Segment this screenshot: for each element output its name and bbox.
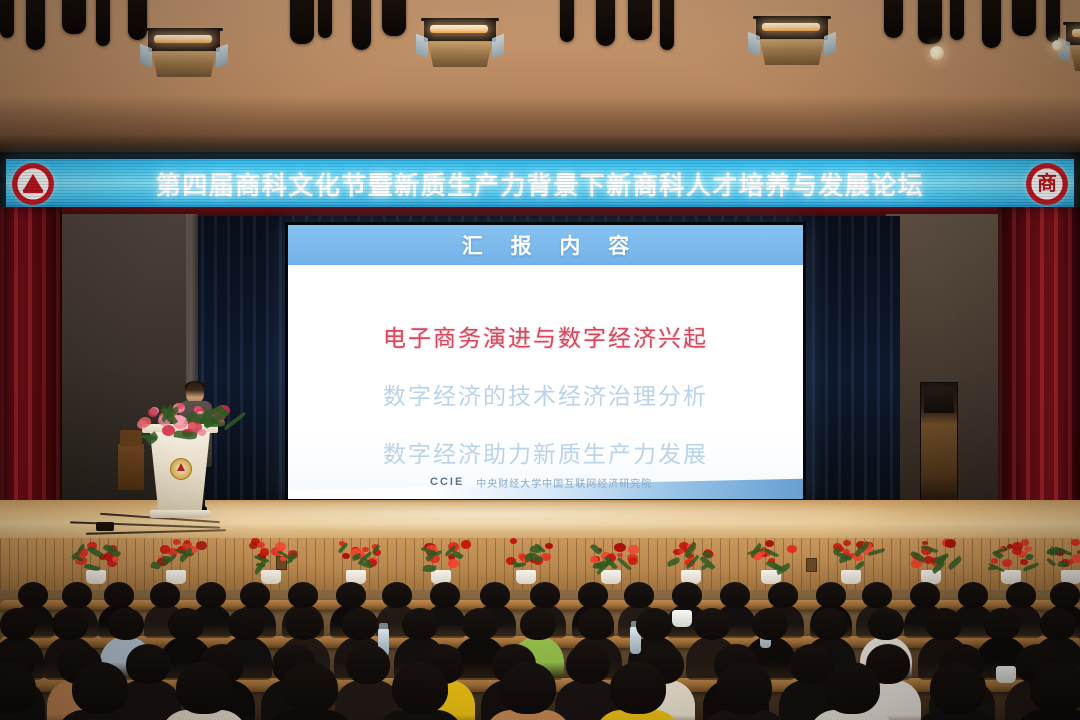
stage-light-fixture (1066, 18, 1080, 74)
pot-bloom (173, 539, 180, 545)
audience-member-head (176, 662, 232, 714)
ceiling-shadow (0, 96, 1080, 152)
university-crest-icon (170, 458, 192, 480)
acoustic-baffle (918, 0, 942, 44)
red-flower-pot (70, 538, 122, 584)
red-flower-pot (585, 538, 637, 584)
audience-member-head (196, 582, 226, 608)
pot-bloom (1021, 539, 1029, 546)
acoustic-baffle (352, 0, 371, 50)
acoustic-baffle (290, 0, 314, 44)
audience-member-head (694, 608, 730, 640)
slide-title: 汇 报 内 容 (451, 230, 641, 260)
audience-member-head (126, 644, 170, 684)
red-flower-pot (665, 538, 717, 584)
auditorium-photo: 第四届商科文化节暨新质生产力背景下新商科人才培养与发展论坛 商 汇 报 内 容 … (0, 0, 1080, 720)
pot-bloom (628, 557, 638, 565)
pot-bloom (461, 540, 472, 549)
flower-petal (139, 417, 151, 427)
acoustic-baffle (318, 0, 332, 38)
acoustic-baffle (1012, 0, 1036, 36)
audience-member-head (1030, 662, 1080, 714)
stage-light-fixture (756, 12, 828, 68)
pot-bloom (184, 540, 189, 544)
audience-member-head (720, 582, 750, 608)
audience-member-head (672, 582, 702, 608)
audience-member-head (240, 582, 270, 608)
fixture-flap-left (748, 32, 760, 57)
pot-vase (516, 570, 536, 584)
audience-member-head (1006, 582, 1036, 608)
slide-body: 电子商务演进与数字经济兴起 数字经济的技术经济治理分析 数字经济助力新质生产力发… (288, 265, 803, 499)
audience-member-head (462, 608, 498, 640)
pot-leaf (422, 564, 436, 572)
pot-bloom (1024, 546, 1032, 552)
stage-chair (118, 444, 144, 490)
audience-member-head (346, 644, 390, 684)
pot-bloom (448, 559, 460, 568)
audience-member-head (108, 608, 144, 640)
pot-leaf (667, 557, 682, 567)
wall-socket-icon (806, 558, 817, 572)
audience-member-head (342, 608, 378, 640)
slide-footer: CCIE 中央财经大学中国互联网经济研究院 (288, 465, 803, 499)
banner-title-text: 第四届商科文化节暨新质生产力背景下新商科人才培养与发展论坛 (60, 166, 1020, 202)
led-event-banner: 第四届商科文化节暨新质生产力背景下新商科人才培养与发展论坛 商 (6, 157, 1074, 212)
stage-light-fixture (424, 14, 496, 70)
pa-speaker-cabinet (920, 382, 958, 506)
pot-leaf (1058, 560, 1068, 568)
red-curtain-right (998, 207, 1080, 529)
audience-member-head (930, 662, 986, 714)
acoustic-baffle (382, 0, 406, 36)
audience-member-head (430, 582, 460, 608)
bottle-cap (379, 623, 388, 629)
audience-member-head (18, 582, 48, 608)
acoustic-baffle (950, 0, 964, 40)
fixture-lamp (1072, 29, 1080, 37)
fixture-flap-left (140, 44, 152, 69)
acoustic-baffle (1046, 0, 1060, 42)
slide-bullet-3: 数字经济助力新质生产力发展 (383, 435, 708, 469)
ccie-logo-text: CCIE (430, 476, 464, 488)
red-flower-pot (905, 538, 957, 584)
seal-glyph: 商 (1026, 163, 1068, 205)
slide-bullet-1: 电子商务演进与数字经济兴起 (383, 319, 708, 353)
audience-member-head (824, 662, 880, 714)
pot-bloom (628, 545, 639, 554)
pot-bloom (843, 540, 851, 546)
audience-member-head (958, 582, 988, 608)
acoustic-baffle (982, 0, 1001, 48)
audience-member-head (286, 608, 322, 640)
audience-member-head (812, 608, 848, 640)
red-curtain-left (0, 207, 62, 527)
acoustic-baffle (560, 0, 574, 42)
flower-petal (148, 408, 158, 417)
projection-screen-frame: 汇 报 内 容 电子商务演进与数字经济兴起 数字经济的技术经济治理分析 数字经济… (285, 222, 806, 502)
audience-member-head (1050, 582, 1080, 608)
red-flower-pot (245, 538, 297, 584)
pot-bloom (342, 553, 350, 560)
red-flower-pot (745, 538, 797, 584)
fixture-lamp (154, 35, 212, 43)
red-flower-pot (825, 538, 877, 584)
presentation-slide: 汇 报 内 容 电子商务演进与数字经济兴起 数字经济的技术经济治理分析 数字经济… (288, 225, 803, 499)
pot-bloom (1071, 554, 1080, 563)
stage-light-fixture (148, 24, 220, 80)
institute-name-text: 中央财经大学中国互联网经济研究院 (476, 475, 652, 490)
red-flower-pot (985, 538, 1037, 584)
audience-member-head (0, 608, 36, 640)
fixture-barndoor (1070, 45, 1080, 71)
pot-vase (601, 570, 621, 584)
audience-member-head (768, 582, 798, 608)
audience-member-head (520, 608, 556, 640)
audience-member-head (610, 662, 666, 714)
red-flower-pot (500, 538, 552, 584)
audience-member-head (624, 582, 654, 608)
audience-member-head (816, 582, 846, 608)
fixture-barndoor (152, 51, 216, 77)
audience-member-head (500, 662, 556, 714)
acoustic-baffle (96, 0, 110, 46)
ceiling-bulb-icon (1052, 40, 1063, 51)
audience-member-head (530, 582, 560, 608)
audience-member-head (282, 662, 338, 714)
pot-bloom (1002, 559, 1012, 567)
audience-member-head (480, 582, 510, 608)
audience-member-head (392, 662, 448, 714)
audience-member-head (862, 582, 892, 608)
audience-member-head (402, 608, 438, 640)
slide-header-band: 汇 报 内 容 (288, 225, 803, 265)
pot-bloom (614, 543, 625, 552)
audience-member-head (716, 662, 772, 714)
audience-member-head (62, 582, 92, 608)
university-seal-icon (12, 163, 54, 205)
pot-leaf (1046, 557, 1056, 567)
floor-sheen (150, 502, 910, 532)
acoustic-baffle (884, 0, 903, 38)
pot-vase (841, 570, 861, 584)
audience-member-head (104, 582, 134, 608)
slide-bullet-2: 数字经济的技术经济治理分析 (383, 377, 708, 411)
audience-member-head (566, 644, 610, 684)
red-flower-pot (1045, 538, 1080, 584)
audience-member-head (288, 582, 318, 608)
acoustic-baffle (26, 0, 45, 50)
fixture-barndoor (428, 41, 492, 67)
audience-member-head (984, 608, 1020, 640)
flower-petal (198, 429, 206, 436)
audience-member-head (382, 582, 412, 608)
red-flower-pot (330, 538, 382, 584)
business-school-seal-icon: 商 (1026, 163, 1068, 205)
audience-member-head (926, 608, 962, 640)
cable-junction-box (96, 522, 114, 531)
audience-member-head (336, 582, 366, 608)
acoustic-baffle (596, 0, 615, 46)
pot-bloom (257, 542, 265, 548)
red-flower-pot (150, 538, 202, 584)
pot-bloom (510, 538, 517, 544)
audience-member-head (868, 608, 904, 640)
audience-member-head (52, 608, 88, 640)
audience-member-head (910, 582, 940, 608)
pot-leaf (855, 561, 866, 570)
ceiling-bulb-icon (930, 46, 944, 60)
audience-member-head (578, 608, 614, 640)
audience-member-head (150, 582, 180, 608)
acoustic-baffle (128, 0, 147, 40)
pot-bloom (1071, 539, 1080, 546)
pot-bloom (275, 542, 286, 551)
pot-bloom (787, 545, 797, 553)
audience-member-head (578, 582, 608, 608)
pot-bloom (765, 540, 774, 547)
pot-leaf (161, 556, 170, 562)
paper-cup (996, 666, 1016, 683)
audience-member-head (1040, 608, 1076, 640)
pot-bloom (945, 539, 956, 548)
pot-bloom (260, 548, 269, 555)
acoustic-baffle (660, 0, 674, 50)
fixture-barndoor (760, 39, 824, 65)
fixture-lamp (762, 23, 820, 31)
fixture-lamp (430, 25, 488, 33)
fixture-flap-left (416, 34, 428, 59)
audience-member-head (636, 608, 672, 640)
red-flower-pot (415, 538, 467, 584)
acoustic-baffle (628, 0, 652, 40)
podium-flower-arrangement (126, 394, 236, 444)
acoustic-baffle (62, 0, 86, 34)
pot-vase (261, 570, 281, 584)
audience-member-head (228, 608, 264, 640)
audience-member-head (168, 608, 204, 640)
paper-cup (672, 610, 692, 627)
audience-member-head (752, 608, 788, 640)
acoustic-baffle (0, 0, 14, 38)
pot-leaf (590, 543, 602, 556)
speaker-grille (924, 387, 954, 413)
audience-member-head (72, 662, 128, 714)
podium-base (150, 510, 210, 518)
pot-vase (86, 570, 106, 584)
